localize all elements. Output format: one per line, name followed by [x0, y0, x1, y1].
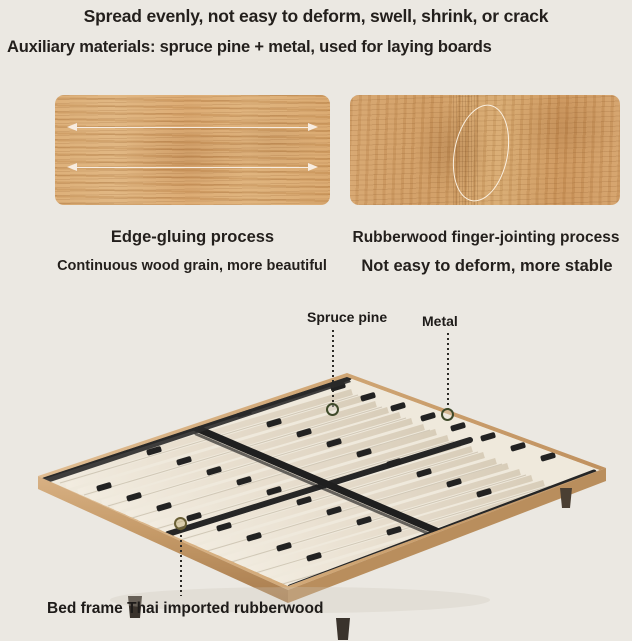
callout-label-metal: Metal — [422, 313, 458, 329]
page-title: Spread evenly, not easy to deform, swell… — [0, 6, 632, 27]
leader-line-bed-frame — [180, 530, 182, 596]
infographic-page: Spread evenly, not easy to deform, swell… — [0, 0, 632, 641]
leader-line-spruce-pine — [332, 330, 334, 408]
leg-front-centre — [336, 618, 350, 640]
callout-marker-bed-frame — [174, 517, 187, 530]
edge-gluing-sample-image — [55, 95, 330, 205]
page-subtitle: Auxiliary materials: spruce pine + metal… — [0, 38, 632, 57]
leg-back-right — [560, 488, 572, 508]
callout-marker-spruce-pine — [326, 403, 339, 416]
callout-label-spruce-pine: Spruce pine — [307, 309, 387, 325]
bed-base-svg — [0, 300, 632, 641]
grain-direction-arrow-top — [67, 123, 318, 132]
right-panel-title: Rubberwood finger-jointing process — [342, 229, 630, 247]
leader-line-metal — [447, 333, 449, 413]
right-panel-subtitle: Not easy to deform, more stable — [342, 257, 632, 276]
arrow-head-right-icon — [308, 123, 318, 131]
bed-base-illustration — [0, 300, 632, 641]
left-panel-subtitle: Continuous wood grain, more beautiful — [47, 258, 337, 274]
left-panel-title: Edge-gluing process — [55, 228, 330, 247]
arrow-head-right-icon — [308, 163, 318, 171]
grain-direction-arrow-bottom — [67, 163, 318, 172]
arrow-shaft — [76, 127, 309, 128]
arrow-shaft — [76, 167, 309, 168]
finger-joint-sample-image — [350, 95, 620, 205]
callout-marker-metal — [441, 408, 454, 421]
callout-label-bed-frame: Bed frame Thai imported rubberwood — [47, 600, 323, 618]
slat-deck — [42, 377, 600, 588]
